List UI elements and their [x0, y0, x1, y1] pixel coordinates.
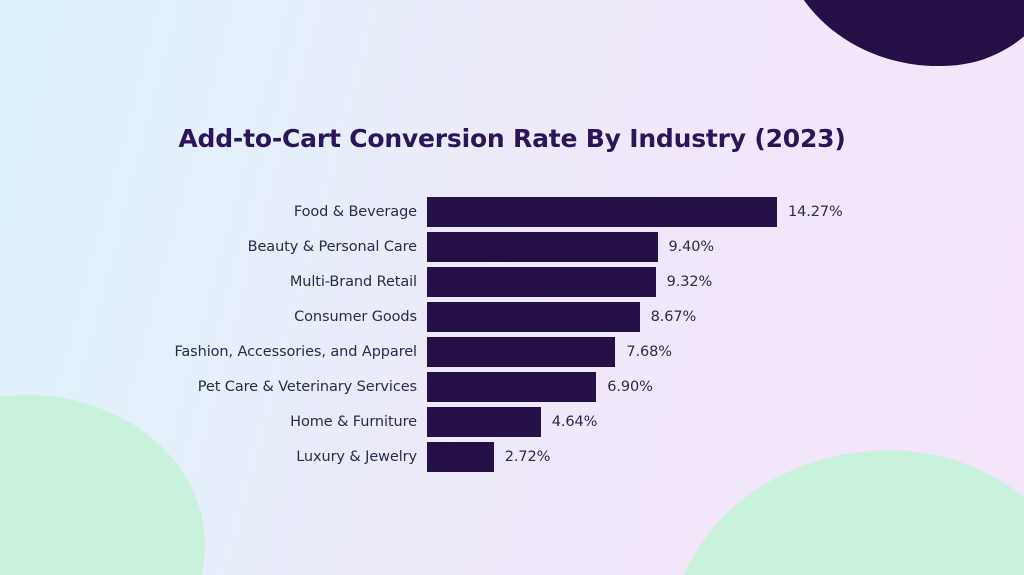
- chart-container: Add-to-Cart Conversion Rate By Industry …: [0, 0, 1024, 575]
- bar-category-label: Food & Beverage: [0, 204, 427, 220]
- bar: [427, 407, 541, 437]
- chart-title: Add-to-Cart Conversion Rate By Industry …: [178, 124, 845, 153]
- bar-value-label: 8.67%: [651, 309, 697, 325]
- bar-category-label: Pet Care & Veterinary Services: [0, 379, 427, 395]
- bar-row: Multi-Brand Retail9.32%: [0, 267, 1024, 297]
- bar-row: Luxury & Jewelry2.72%: [0, 442, 1024, 472]
- bar-track: 9.32%: [427, 267, 1024, 297]
- bar-category-label: Beauty & Personal Care: [0, 239, 427, 255]
- bar-value-label: 6.90%: [607, 379, 653, 395]
- bar-value-label: 14.27%: [788, 204, 843, 220]
- bar-track: 9.40%: [427, 232, 1024, 262]
- bar-track: 8.67%: [427, 302, 1024, 332]
- bar-row: Beauty & Personal Care9.40%: [0, 232, 1024, 262]
- bar-value-label: 4.64%: [552, 414, 598, 430]
- bar: [427, 232, 658, 262]
- bar-row: Food & Beverage14.27%: [0, 197, 1024, 227]
- bar-track: 7.68%: [427, 337, 1024, 367]
- bar-value-label: 9.40%: [669, 239, 715, 255]
- bar: [427, 197, 777, 227]
- bar-category-label: Multi-Brand Retail: [0, 274, 427, 290]
- bar: [427, 337, 615, 367]
- bar: [427, 267, 656, 297]
- bar-chart-plot: Food & Beverage14.27%Beauty & Personal C…: [0, 197, 1024, 472]
- bar-category-label: Fashion, Accessories, and Apparel: [0, 344, 427, 360]
- bar-category-label: Consumer Goods: [0, 309, 427, 325]
- bar-track: 6.90%: [427, 372, 1024, 402]
- bar-value-label: 7.68%: [626, 344, 672, 360]
- bar: [427, 442, 494, 472]
- bar-row: Home & Furniture4.64%: [0, 407, 1024, 437]
- bar: [427, 372, 596, 402]
- bar-category-label: Home & Furniture: [0, 414, 427, 430]
- bar-value-label: 9.32%: [667, 274, 713, 290]
- bar-track: 4.64%: [427, 407, 1024, 437]
- bar-track: 14.27%: [427, 197, 1024, 227]
- bar-row: Consumer Goods8.67%: [0, 302, 1024, 332]
- bar-track: 2.72%: [427, 442, 1024, 472]
- bar: [427, 302, 640, 332]
- bar-value-label: 2.72%: [505, 449, 551, 465]
- bar-row: Fashion, Accessories, and Apparel7.68%: [0, 337, 1024, 367]
- bar-row: Pet Care & Veterinary Services6.90%: [0, 372, 1024, 402]
- bar-category-label: Luxury & Jewelry: [0, 449, 427, 465]
